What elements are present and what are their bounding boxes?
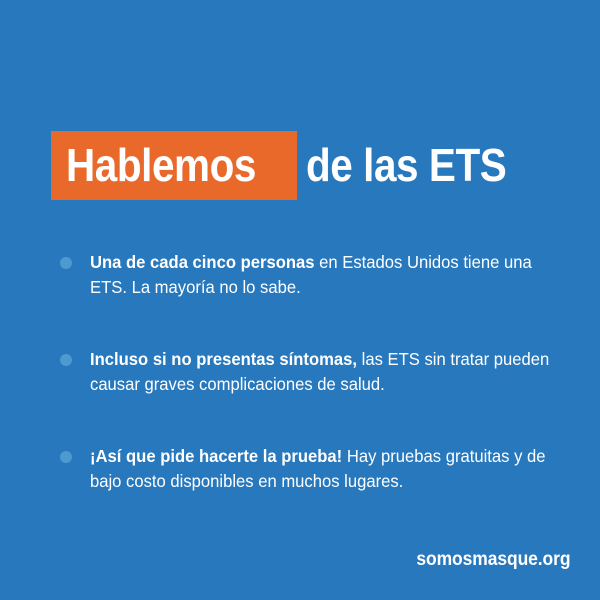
bullet-text: Una de cada cinco personas en Estados Un… xyxy=(90,250,570,300)
page-title: Hablemos de las ETS xyxy=(51,131,534,200)
list-item: Incluso si no presentas síntomas, las ET… xyxy=(51,347,571,397)
bullet-lead-text: ¡Así que pide hacerte la prueba! xyxy=(90,446,342,466)
bullet-dot-icon xyxy=(60,354,72,366)
bullet-list: Una de cada cinco personas en Estados Un… xyxy=(51,250,571,494)
bullet-text: ¡Así que pide hacerte la prueba! Hay pru… xyxy=(90,444,570,494)
bullet-dot-icon xyxy=(60,451,72,463)
list-item: Una de cada cinco personas en Estados Un… xyxy=(51,250,571,300)
bullet-lead-text: Una de cada cinco personas xyxy=(90,252,315,272)
list-item: ¡Así que pide hacerte la prueba! Hay pru… xyxy=(51,444,571,494)
bullet-text: Incluso si no presentas síntomas, las ET… xyxy=(90,347,570,397)
poster-canvas: Hablemos de las ETS Una de cada cinco pe… xyxy=(0,0,600,600)
bullet-lead-text: Incluso si no presentas síntomas, xyxy=(90,349,357,369)
title-highlight-box: Hablemos xyxy=(51,131,297,200)
title-rest-text: de las ETS xyxy=(306,131,506,200)
footer-website-url[interactable]: somosmasque.org xyxy=(416,548,570,572)
bullet-dot-icon xyxy=(60,257,72,269)
title-highlighted-word: Hablemos xyxy=(66,131,256,200)
title-rest-box: de las ETS xyxy=(297,131,534,200)
